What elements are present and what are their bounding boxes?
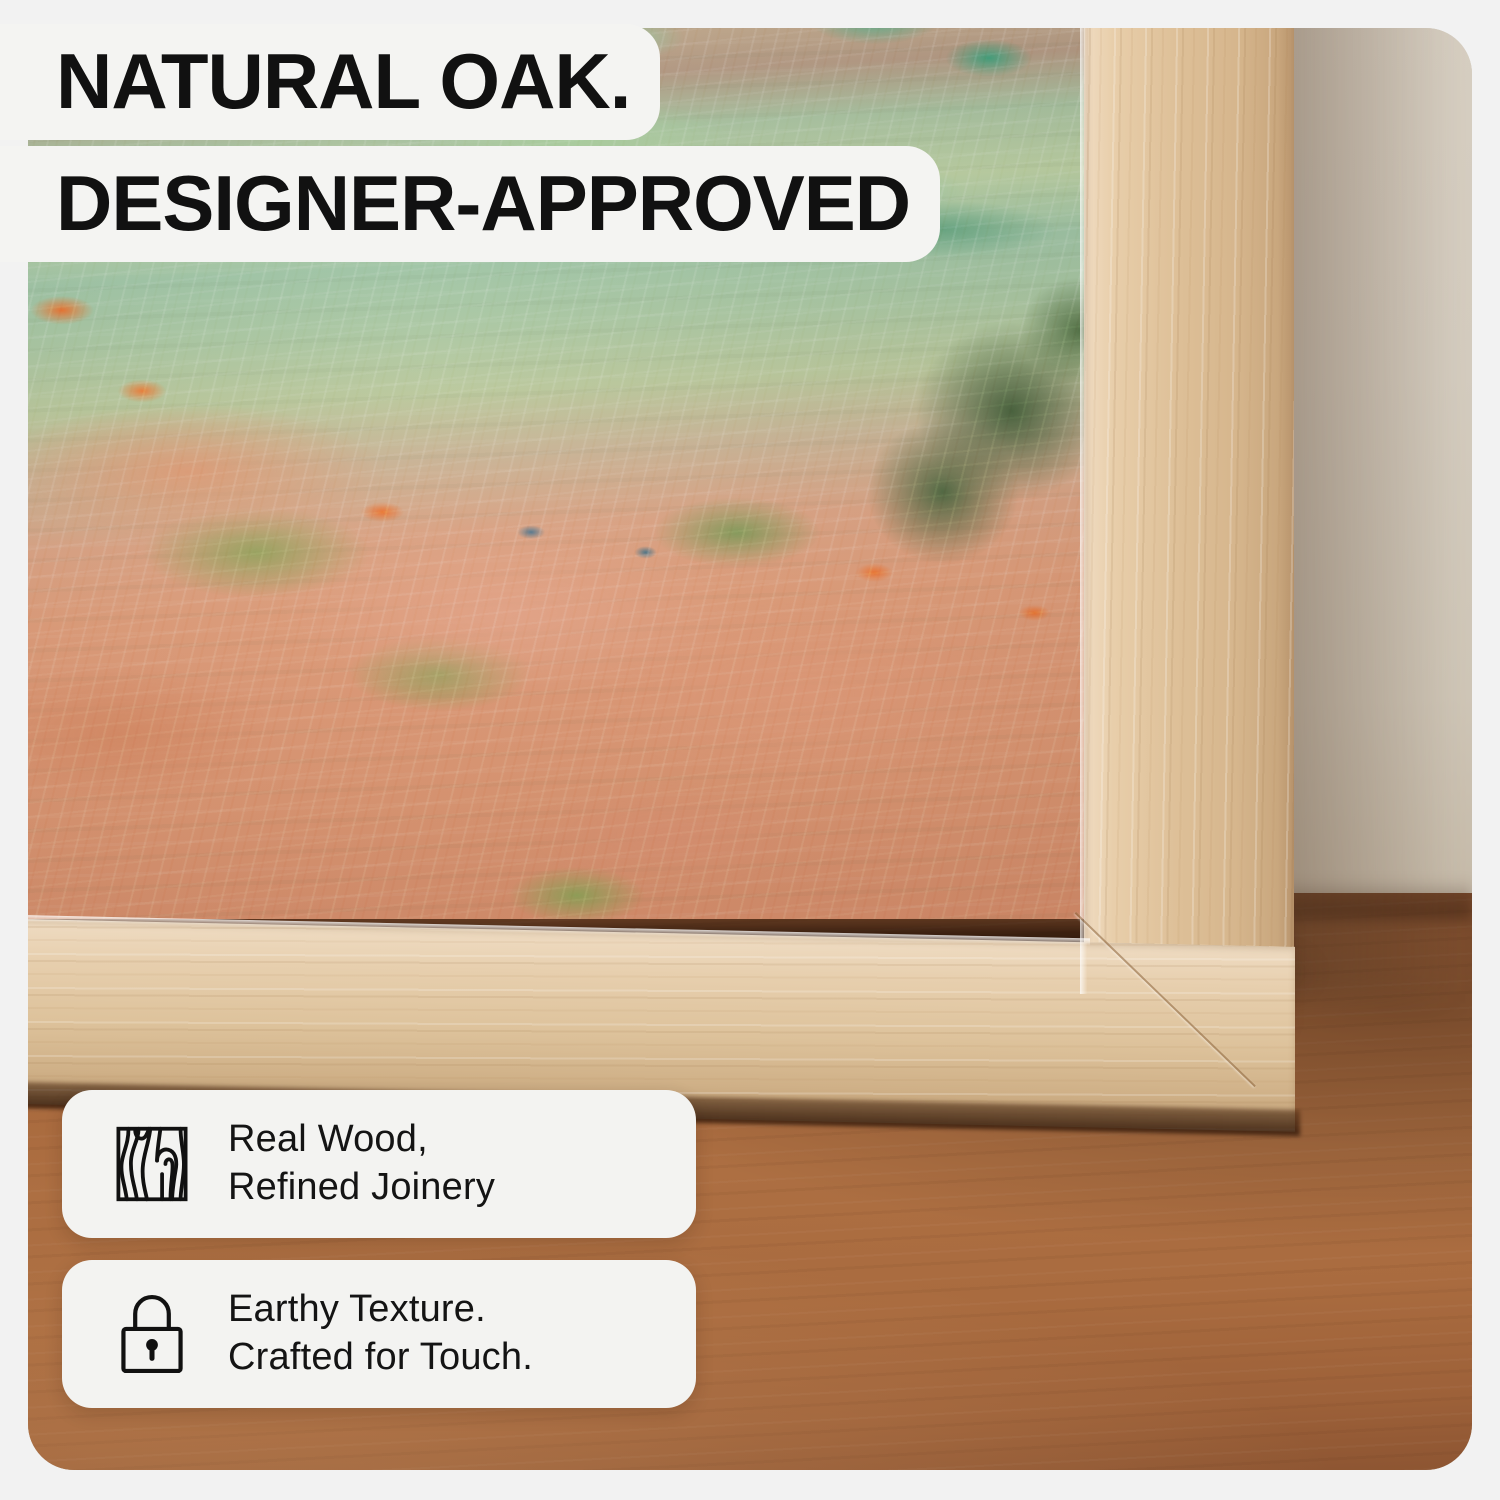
feature-badge-text: Earthy Texture. Crafted for Touch. (228, 1286, 533, 1382)
lock-icon (108, 1290, 196, 1378)
feature-badge-line-1: Real Wood, (228, 1116, 495, 1164)
wood-grain-icon (108, 1120, 196, 1208)
feature-badge-line-1: Earthy Texture. (228, 1286, 533, 1334)
oak-grain-vertical (1084, 28, 1294, 994)
headline-line-1: NATURAL OAK. (0, 24, 660, 140)
feature-badge-text: Real Wood, Refined Joinery (228, 1116, 495, 1212)
feature-badge-earthy-texture[interactable]: Earthy Texture. Crafted for Touch. (62, 1260, 696, 1408)
feature-badge-line-2: Refined Joinery (228, 1164, 495, 1212)
frame-wall-shadow (1264, 28, 1472, 994)
feature-badge-line-2: Crafted for Touch. (228, 1334, 533, 1382)
headline-line-2: DESIGNER-APPROVED (0, 146, 940, 262)
product-marketing-image: NATURAL OAK. DESIGNER-APPROVED (0, 0, 1500, 1500)
frame-rail-right (1084, 28, 1294, 994)
headline-block: NATURAL OAK. DESIGNER-APPROVED (0, 24, 1100, 262)
feature-badge-real-wood[interactable]: Real Wood, Refined Joinery (62, 1090, 696, 1238)
feature-badge-list: Real Wood, Refined Joinery Earthy Textur… (62, 1090, 696, 1408)
